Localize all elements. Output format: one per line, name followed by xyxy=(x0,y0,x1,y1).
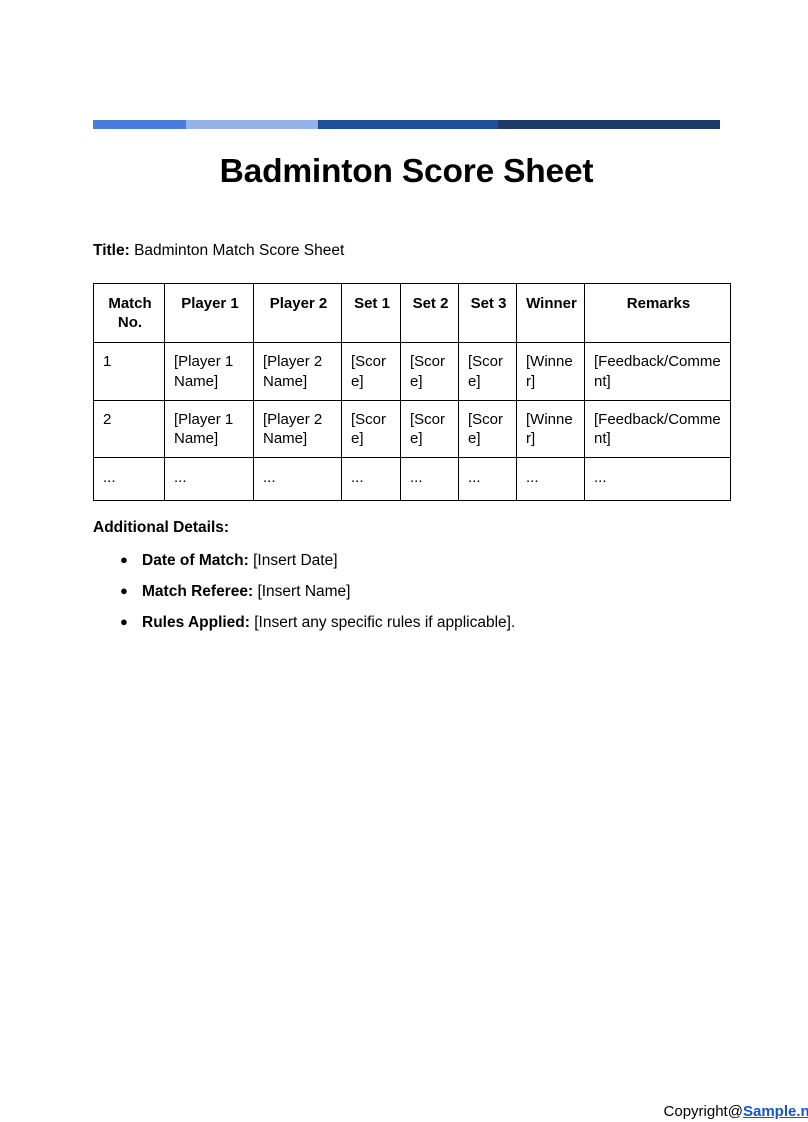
table-header-set-1: Set 1 xyxy=(342,284,401,343)
bullet-icon: ● xyxy=(120,614,128,631)
title-line-label: Title: xyxy=(93,242,130,259)
cell-set-1[interactable]: [Score] xyxy=(342,400,401,457)
cell-set-3[interactable]: [Score] xyxy=(459,343,517,400)
cell-remarks[interactable]: ... xyxy=(585,458,731,501)
accent-bar-segment-2 xyxy=(186,120,318,129)
detail-value-date-of-match[interactable]: [Insert Date] xyxy=(253,552,337,569)
list-item: ● Rules Applied: [Insert any specific ru… xyxy=(93,614,720,633)
table-row: 2 [Player 1 Name] [Player 2 Name] [Score… xyxy=(94,400,731,457)
table-header-player-2: Player 2 xyxy=(254,284,342,343)
detail-label-rules-applied: Rules Applied: xyxy=(142,614,250,631)
copyright-text: Copyright@ xyxy=(664,1103,743,1120)
page-title: Badminton Score Sheet xyxy=(93,129,720,192)
table-header-set-3: Set 3 xyxy=(459,284,517,343)
list-item: ● Date of Match: [Insert Date] xyxy=(93,552,720,571)
accent-bar xyxy=(93,120,720,129)
cell-match-no[interactable]: 2 xyxy=(94,400,165,457)
list-item: ● Match Referee: [Insert Name] xyxy=(93,583,720,602)
detail-value-match-referee[interactable]: [Insert Name] xyxy=(257,583,350,600)
table-row: 1 [Player 1 Name] [Player 2 Name] [Score… xyxy=(94,343,731,400)
table-header-row: Match No. Player 1 Player 2 Set 1 Set 2 … xyxy=(94,284,731,343)
table-header-player-1: Player 1 xyxy=(165,284,254,343)
cell-player-1[interactable]: [Player 1 Name] xyxy=(165,400,254,457)
cell-set-3[interactable]: ... xyxy=(459,458,517,501)
title-line: Title: Badminton Match Score Sheet xyxy=(93,192,720,262)
cell-player-1[interactable]: [Player 1 Name] xyxy=(165,343,254,400)
additional-details-heading: Additional Details: xyxy=(93,501,720,539)
additional-details-list: ● Date of Match: [Insert Date] ● Match R… xyxy=(93,539,720,632)
cell-remarks[interactable]: [Feedback/Comment] xyxy=(585,400,731,457)
table-row: ... ... ... ... ... ... ... ... xyxy=(94,458,731,501)
table-header-set-2: Set 2 xyxy=(401,284,459,343)
cell-winner[interactable]: ... xyxy=(517,458,585,501)
bullet-icon: ● xyxy=(120,583,128,600)
detail-label-date-of-match: Date of Match: xyxy=(142,552,249,569)
accent-bar-segment-4 xyxy=(498,120,720,129)
cell-player-1[interactable]: ... xyxy=(165,458,254,501)
table-header-remarks: Remarks xyxy=(585,284,731,343)
detail-value-rules-applied[interactable]: [Insert any specific rules if applicable… xyxy=(254,614,515,631)
cell-set-1[interactable]: [Score] xyxy=(342,343,401,400)
cell-winner[interactable]: [Winner] xyxy=(517,400,585,457)
cell-match-no[interactable]: 1 xyxy=(94,343,165,400)
cell-player-2[interactable]: ... xyxy=(254,458,342,501)
accent-bar-segment-1 xyxy=(93,120,186,129)
bullet-icon: ● xyxy=(120,552,128,569)
footer: Copyright@Sample.net xyxy=(93,1102,808,1122)
cell-player-2[interactable]: [Player 2 Name] xyxy=(254,400,342,457)
cell-set-2[interactable]: [Score] xyxy=(401,400,459,457)
table-header-winner: Winner xyxy=(517,284,585,343)
sample-net-link[interactable]: Sample.net xyxy=(743,1103,808,1120)
score-table: Match No. Player 1 Player 2 Set 1 Set 2 … xyxy=(93,283,731,501)
cell-set-1[interactable]: ... xyxy=(342,458,401,501)
cell-set-3[interactable]: [Score] xyxy=(459,400,517,457)
cell-player-2[interactable]: [Player 2 Name] xyxy=(254,343,342,400)
table-header-match-no: Match No. xyxy=(94,284,165,343)
cell-winner[interactable]: [Winner] xyxy=(517,343,585,400)
cell-set-2[interactable]: ... xyxy=(401,458,459,501)
title-line-value: Badminton Match Score Sheet xyxy=(134,242,344,259)
cell-match-no[interactable]: ... xyxy=(94,458,165,501)
accent-bar-segment-3 xyxy=(318,120,498,129)
detail-label-match-referee: Match Referee: xyxy=(142,583,253,600)
document-content: Badminton Score Sheet Title: Badminton M… xyxy=(93,120,720,632)
cell-remarks[interactable]: [Feedback/Comment] xyxy=(585,343,731,400)
cell-set-2[interactable]: [Score] xyxy=(401,343,459,400)
document-page: Badminton Score Sheet Title: Badminton M… xyxy=(0,0,808,1044)
